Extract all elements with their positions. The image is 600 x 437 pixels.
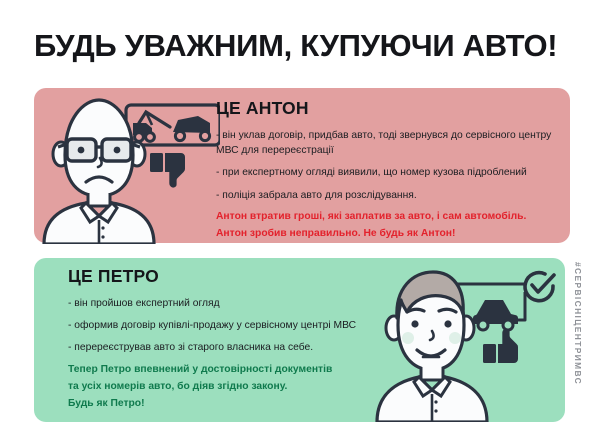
anton-bullet-1: - він уклав договір, придбав авто, тоді … (216, 128, 564, 158)
anton-text-block: ЦЕ АНТОН - він уклав договір, придбав ав… (216, 98, 564, 241)
illustration-petro (375, 262, 565, 422)
petro-accent-1: Тепер Петро впевнений у достовірності до… (68, 363, 378, 377)
tow-truck-icon (126, 105, 220, 145)
infographic-page: БУДЬ УВАЖНИМ, КУПУЮЧИ АВТО! (0, 0, 600, 437)
anton-heading: ЦЕ АНТОН (216, 98, 564, 119)
anton-bullet-3: - поліція забрала авто для розслідування… (216, 188, 564, 203)
illustration-anton (40, 92, 220, 244)
petro-accent-3: Будь як Петро! (68, 397, 378, 411)
petro-accent-2: та усіх номерів авто, бо діяв згідно зак… (68, 380, 378, 394)
petro-bullet-3: - перереєстрував авто зі старого власник… (68, 340, 378, 355)
petro-bullet-2: - оформив договір купівлі-продажу у серв… (68, 318, 378, 333)
page-title: БУДЬ УВАЖНИМ, КУПУЮЧИ АВТО! (34, 28, 574, 64)
anton-accent-1: Антон втратив гроші, які заплатив за авт… (216, 210, 564, 224)
hashtag-label: #СЕРВІСНІЦЕНТРИМВС (573, 262, 583, 422)
character-anton (44, 100, 154, 244)
car-icon (473, 300, 518, 330)
thumbs-down-icon (150, 153, 185, 188)
check-circle-icon (525, 273, 554, 301)
thumbs-up-icon (483, 328, 518, 363)
petro-bullet-1: - він пройшов експертний огляд (68, 296, 378, 311)
anton-accent-2: Антон зробив неправильно. Не будь як Ант… (216, 227, 564, 241)
character-petro (377, 272, 487, 422)
petro-text-block: ЦЕ ПЕТРО - він пройшов експертний огляд … (68, 266, 378, 411)
anton-bullet-2: - при експертному огляді виявили, що ном… (216, 165, 564, 180)
petro-heading: ЦЕ ПЕТРО (68, 266, 378, 287)
